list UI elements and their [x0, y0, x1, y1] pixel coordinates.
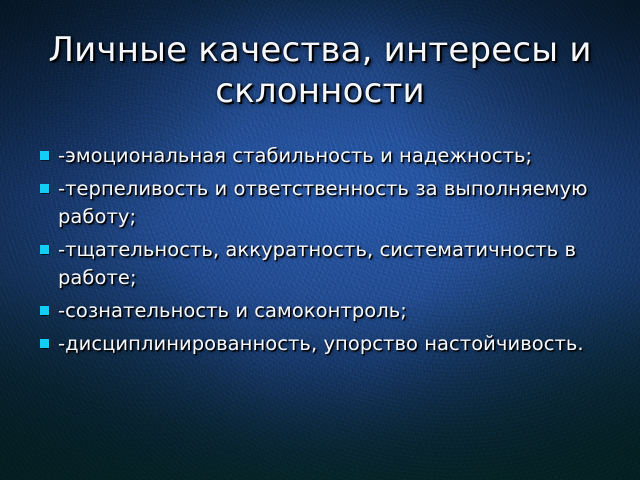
- list-item: -сознательность и самоконтроль;: [34, 297, 606, 326]
- list-item: -терпеливость и ответственность за выпол…: [34, 175, 606, 232]
- list-item: -тщательность, аккуратность, систематичн…: [34, 236, 606, 293]
- slide-content: Личные качества, интересы и склонности -…: [0, 0, 640, 480]
- list-item-label: -эмоциональная стабильность и надежность…: [58, 142, 606, 171]
- list-item-label: -терпеливость и ответственность за выпол…: [58, 175, 606, 232]
- square-bullet-icon: [40, 245, 49, 254]
- list-item-label: -дисциплинированность, упорство настойчи…: [58, 330, 606, 359]
- presentation-slide: Личные качества, интересы и склонности -…: [0, 0, 640, 480]
- list-item: -эмоциональная стабильность и надежность…: [34, 142, 606, 171]
- square-bullet-icon: [40, 151, 49, 160]
- slide-title: Личные качества, интересы и склонности: [24, 30, 616, 112]
- square-bullet-icon: [40, 306, 49, 315]
- square-bullet-icon: [40, 184, 49, 193]
- list-item-label: -тщательность, аккуратность, систематичн…: [58, 236, 606, 293]
- list-item: -дисциплинированность, упорство настойчи…: [34, 330, 606, 359]
- bullet-list: -эмоциональная стабильность и надежность…: [34, 142, 606, 362]
- list-item-label: -сознательность и самоконтроль;: [58, 297, 606, 326]
- square-bullet-icon: [40, 339, 49, 348]
